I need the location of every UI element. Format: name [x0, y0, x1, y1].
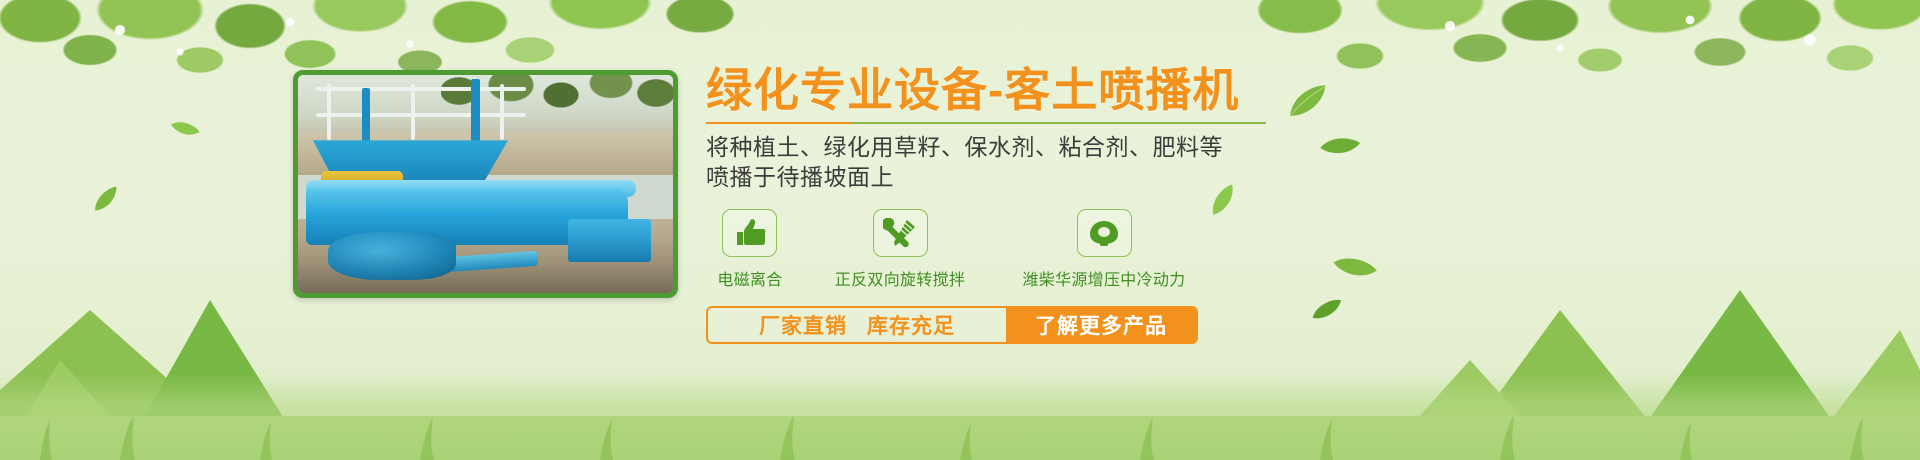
cta-tag-right: 库存充足 — [867, 310, 955, 340]
feature-list: 电磁离合 正反双向旋转搅拌 — [706, 209, 1426, 290]
subtitle-line-1: 将种植土、绿化用草籽、保水剂、粘合剂、肥料等 — [706, 132, 1426, 162]
feature-item-bidirectional-mixing: 正反双向旋转搅拌 — [816, 209, 984, 290]
page-title: 绿化专业设备-客土喷播机 — [706, 64, 1426, 117]
title-divider — [706, 122, 1266, 124]
photo-railing — [306, 84, 569, 141]
thumbs-up-icon — [722, 209, 777, 257]
feature-label: 正反双向旋转搅拌 — [816, 266, 984, 290]
feature-item-weichai-power: 潍柴华源增压中冷动力 — [1006, 209, 1202, 290]
learn-more-button[interactable]: 了解更多产品 — [1006, 308, 1196, 342]
engine-gear-icon — [1077, 209, 1132, 257]
cta-tag-left: 厂家直销 — [759, 310, 847, 340]
feature-label: 电磁离合 — [706, 266, 794, 290]
promo-banner: 绿化专业设备-客土喷播机 将种植土、绿化用草籽、保水剂、粘合剂、肥料等 喷播于待… — [0, 0, 1920, 460]
subtitle-block: 将种植土、绿化用草籽、保水剂、粘合剂、肥料等 喷播于待播坡面上 — [706, 132, 1426, 193]
cta-tagline: 厂家直销 库存充足 — [708, 308, 1006, 342]
feature-item-electromagnetic-clutch: 电磁离合 — [706, 209, 794, 290]
banner-content: 绿化专业设备-客土喷播机 将种植土、绿化用草籽、保水剂、粘合剂、肥料等 喷播于待… — [706, 64, 1426, 344]
product-photo — [293, 70, 678, 298]
floating-leaf-icon — [88, 184, 125, 215]
subtitle-line-2: 喷播于待播坡面上 — [706, 162, 1426, 192]
feature-label: 潍柴华源增压中冷动力 — [1006, 266, 1202, 290]
grass-foreground-decoration — [0, 374, 1920, 460]
wrench-screwdriver-icon — [873, 209, 928, 257]
cta-bar: 厂家直销 库存充足 了解更多产品 — [706, 306, 1198, 344]
